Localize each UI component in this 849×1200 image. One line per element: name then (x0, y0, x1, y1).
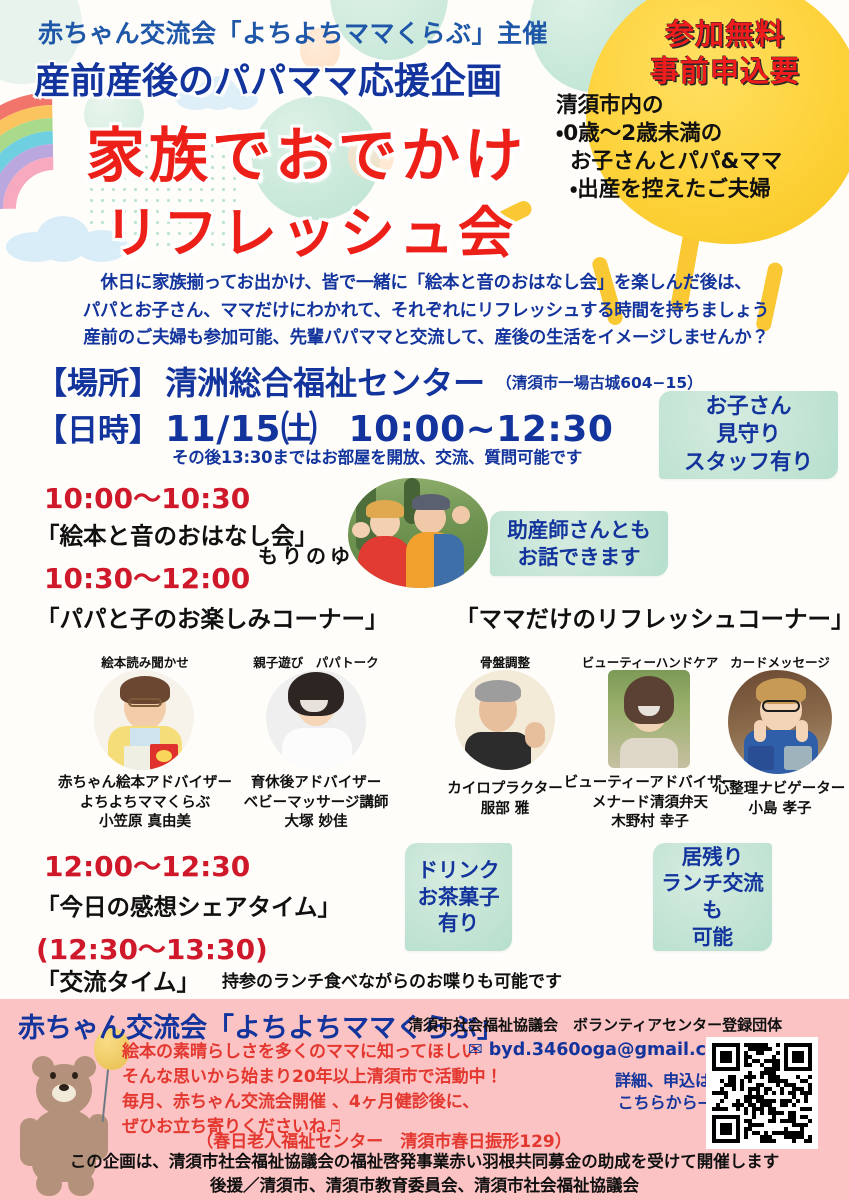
schedule-slot3-title: 「今日の感想シェアタイム」 (36, 888, 341, 922)
badge-midwife: 助産師さんとも お話できます (490, 511, 668, 576)
badge-childcare-staff: お子さん 見守り スタッフ有り (659, 391, 838, 479)
callout-free-text: 参加無料 事前申込要 (606, 16, 844, 90)
footer-message-line3: 毎月、赤ちゃん交流会開催 、4ヶ月健診後に、 (122, 1090, 503, 1115)
footer-message-line2: そんな思いから始まり20年以上清須市で活動中！ (122, 1065, 503, 1090)
presenter-2-photo (266, 670, 366, 770)
presenter-4-photo (608, 670, 690, 768)
footer-apply-line1: 詳細、申込は (575, 1070, 711, 1092)
presenter-1-name: 小笠原 真由美 (58, 813, 232, 833)
schedule-slot4-time: (12:30〜13:30) (36, 928, 268, 968)
callout-target-text: 清須市内の ・0歳〜2歳未満の お子さんとパパ&ママ ・出産を控えたご夫婦 (556, 92, 848, 204)
callout-free-line2: 事前申込要 (606, 53, 844, 90)
presenter-5-name: 小島 孝子 (715, 800, 846, 820)
badge-childcare-staff-label: お子さん 見守り スタッフ有り (684, 393, 813, 477)
badge-midwife-label: 助産師さんとも お話できます (507, 517, 651, 570)
footer-message: 絵本の素晴らしさを多くのママに知ってほしい そんな思いから始まり20年以上清須市… (122, 1040, 503, 1141)
place-value: 清洲総合福祉センター (165, 364, 485, 402)
intro-line3: 産前のご夫婦も参加可能、先輩パパママと交流して、産後の生活をイメージしませんか？ (26, 325, 826, 353)
presenter-2-role2: ベビーマッサージ講師 (244, 794, 389, 814)
schedule-slot2-title-left: 「パパと子のお楽しみコーナー」 (36, 600, 389, 634)
badge-lunch-stay-label: 居残り ランチ交流も 可能 (653, 844, 772, 951)
intro-line1: 休日に家族揃ってお出かけ、皆で一緒に「絵本と音のおはなし会」を楽しんだ後は、 (26, 270, 826, 298)
presenter-3-info: カイロプラクター 服部 雅 (447, 780, 562, 819)
presenter-4-role1: ビューティーアドバイザー (564, 774, 737, 794)
page-title-line2: リフレッシュ会 (104, 188, 517, 268)
page-title-line1: 家族でおでかけ (86, 108, 527, 193)
presenter-5-caption: カードメッセージ (730, 652, 830, 671)
presenter-2-info: 育休後アドバイザー ベビーマッサージ講師 大塚 妙佳 (244, 774, 389, 833)
callout-target-line2: ・0歳〜2歳未満の (556, 120, 848, 148)
presenter-2-caption: 親子遊び パパトーク (253, 652, 378, 671)
presenter-4-name: 木野村 幸子 (564, 813, 737, 833)
envelope-icon: ✉ (468, 1040, 483, 1060)
date-note: その後13:30まではお部屋を開放、交流、質問可能です (172, 444, 582, 468)
schedule-slot2-time: 10:30〜12:00 (44, 557, 250, 597)
presenter-3-photo (455, 670, 555, 770)
presenter-card-3: 骨盤調整 カイロプラクター 服部 雅 (430, 652, 580, 832)
place-row: 【場所】 清洲総合福祉センター （清須市一場古城604−15） (36, 358, 703, 404)
footer-note-funding: この企画は、清須市社会福祉協議会の福祉啓発事業赤い羽根共同募金の助成を受けて開催… (0, 1148, 849, 1172)
schedule-slot3-time: 12:00〜12:30 (44, 845, 250, 885)
place-address: （清須市一場古城604−15） (496, 374, 702, 392)
presenter-4-info: ビューティーアドバイザー メナード清須弁天 木野村 幸子 (564, 774, 737, 833)
schedule-slot4-title: 「交流タイム」 (36, 963, 200, 997)
photo-morinoyu-duo (348, 478, 488, 588)
schedule-slot1-performer: もりのゆ (258, 540, 354, 569)
callout-target-line3: お子さんとパパ&ママ (556, 148, 848, 176)
subtitle-line: 産前産後のパパママ応援企画 (34, 52, 502, 104)
badge-lunch-stay: 居残り ランチ交流も 可能 (653, 843, 772, 951)
presenter-4-role2: メナード清須弁天 (564, 794, 737, 814)
qr-code[interactable] (706, 1037, 818, 1149)
footer-org-registration: 清須市社会福祉協議会 ボランティアセンター登録団体 (408, 1014, 782, 1035)
presenter-2-name: 大塚 妙佳 (244, 813, 389, 833)
footer-message-line1: 絵本の素晴らしさを多くのママに知ってほしい (122, 1040, 503, 1065)
schedule-slot2-title-right: 「ママだけのリフレッシュコーナー」 (455, 600, 849, 634)
callout-target-line4: ・出産を控えたご夫婦 (556, 176, 848, 204)
presenter-5-photo (728, 670, 832, 774)
presenter-5-role1: 心整理ナビゲーター (715, 780, 846, 800)
poster-root: 赤ちゃん交流会「よちよちママくらぶ」主催 産前産後のパパママ応援企画 家族でおで… (0, 0, 849, 1200)
presenter-1-role2: よちよちママくらぶ (58, 794, 232, 814)
footer-note-support: 後援／清須市、清須市教育委員会、清須市社会福祉協議会 (0, 1172, 849, 1196)
footer-email-text: byd.3460oga@gmail.com (489, 1040, 737, 1060)
schedule-slot4-note: 持参のランチ食べながらのお喋りも可能です (222, 967, 562, 992)
presenter-5-info: 心整理ナビゲーター 小島 孝子 (715, 780, 846, 819)
presenter-card-5: カードメッセージ 心整理ナビゲーター 小島 孝子 (712, 652, 848, 832)
footer-apply-hint: 詳細、申込は こちらから→ (575, 1070, 711, 1113)
callout-target-line1: 清須市内の (556, 92, 848, 120)
presenter-3-caption: 骨盤調整 (480, 652, 530, 671)
footer-email[interactable]: ✉ byd.3460oga@gmail.com (468, 1040, 736, 1060)
badge-drink-snacks-label: ドリンク お茶菓子 有り (418, 857, 500, 937)
date-label: 【日時】 (36, 413, 160, 449)
presenter-1-photo (94, 670, 194, 770)
schedule-slot1-time: 10:00〜10:30 (44, 477, 250, 517)
footer-apply-line2: こちらから→ (575, 1092, 711, 1114)
intro-paragraph: 休日に家族揃ってお出かけ、皆で一緒に「絵本と音のおはなし会」を楽しんだ後は、 パ… (26, 270, 826, 353)
qr-code-matrix (712, 1043, 812, 1143)
place-label: 【場所】 (36, 366, 160, 402)
presenter-3-name: 服部 雅 (447, 800, 562, 820)
presenter-card-2: 親子遊び パパトーク 育休後アドバイザー ベビーマッサージ講師 大塚 妙佳 (226, 652, 406, 832)
callout-free-line1: 参加無料 (606, 16, 844, 53)
presenter-1-role1: 赤ちゃん絵本アドバイザー (58, 774, 232, 794)
host-line: 赤ちゃん交流会「よちよちママくらぶ」主催 (38, 14, 548, 50)
intro-line2: パパとお子さん、ママだけにわかれて、それぞれにリフレッシュする時間を持ちましょう (26, 298, 826, 326)
presenter-4-caption: ビューティーハンドケア (582, 652, 719, 671)
badge-drink-snacks: ドリンク お茶菓子 有り (405, 843, 512, 951)
presenter-3-role1: カイロプラクター (447, 780, 562, 800)
presenter-1-info: 赤ちゃん絵本アドバイザー よちよちママくらぶ 小笠原 真由美 (58, 774, 232, 833)
presenter-2-role1: 育休後アドバイザー (244, 774, 389, 794)
presenter-card-1: 絵本読み聞かせ 赤ちゃん絵本アドバイザー よちよちママくらぶ 小笠原 真由美 (60, 652, 230, 832)
presenter-1-caption: 絵本読み聞かせ (101, 652, 189, 671)
